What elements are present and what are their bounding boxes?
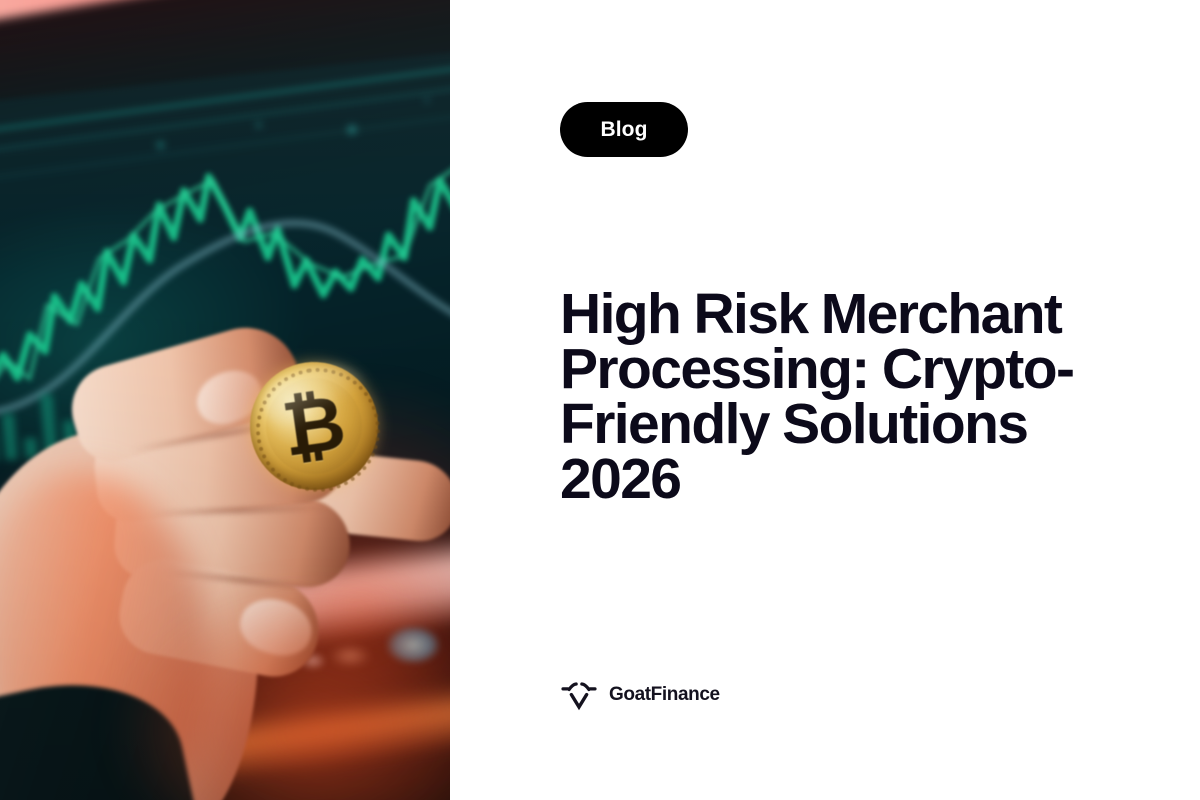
blog-hero-page: ₿ Blog High Risk Merchant Processing: Cr… [0, 0, 1200, 800]
hero-image: ₿ [0, 0, 450, 800]
page-title: High Risk Merchant Processing: Crypto-Fr… [560, 287, 1105, 507]
brand-name: GoatFinance [609, 684, 720, 706]
goat-head-icon [560, 676, 598, 714]
content-panel: Blog High Risk Merchant Processing: Cryp… [450, 0, 1200, 800]
category-badge-blog[interactable]: Blog [560, 102, 688, 157]
brand-logo[interactable]: GoatFinance [560, 676, 720, 714]
photo-vignette [0, 0, 450, 800]
